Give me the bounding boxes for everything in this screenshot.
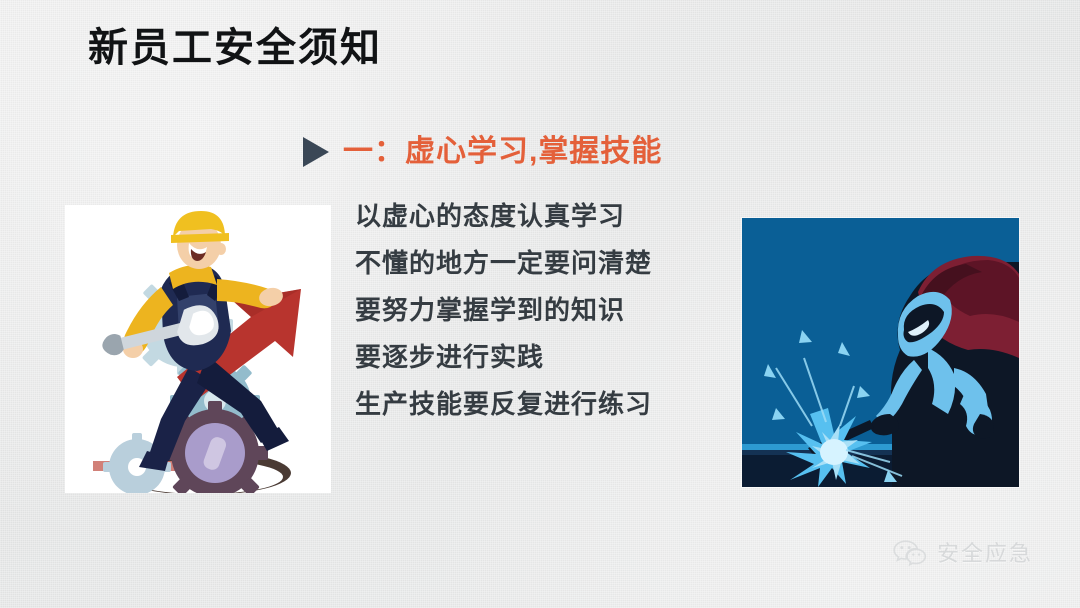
welder-illustration-graphic — [742, 218, 1019, 487]
worker-leaping-over-gears-illustration — [65, 205, 331, 493]
section-heading-label: 一：虚心学习,掌握技能 — [343, 135, 662, 168]
worker-illustration-graphic — [65, 205, 331, 493]
list-item: 生产技能要反复进行练习 — [355, 391, 735, 417]
list-item: 要努力掌握学到的知识 — [355, 297, 735, 323]
list-item: 以虚心的态度认真学习 — [355, 203, 735, 229]
section-heading: 一：虚心学习,掌握技能 — [303, 135, 662, 168]
triangle-right-icon — [303, 137, 329, 167]
list-item: 不懂的地方一定要问清楚 — [355, 250, 735, 276]
watermark-label: 安全应急 — [937, 543, 1033, 565]
welder-at-work-illustration — [742, 218, 1019, 487]
watermark: 安全应急 — [893, 540, 1033, 568]
list-item: 要逐步进行实践 — [355, 344, 735, 370]
wechat-icon — [893, 540, 927, 568]
page-title: 新员工安全须知 — [88, 24, 382, 72]
bullet-list: 以虚心的态度认真学习 不懂的地方一定要问清楚 要努力掌握学到的知识 要逐步进行实… — [355, 203, 735, 417]
presentation-slide: 新员工安全须知 一：虚心学习,掌握技能 以虚心的态度认真学习 不懂的地方一定要问… — [0, 0, 1080, 608]
